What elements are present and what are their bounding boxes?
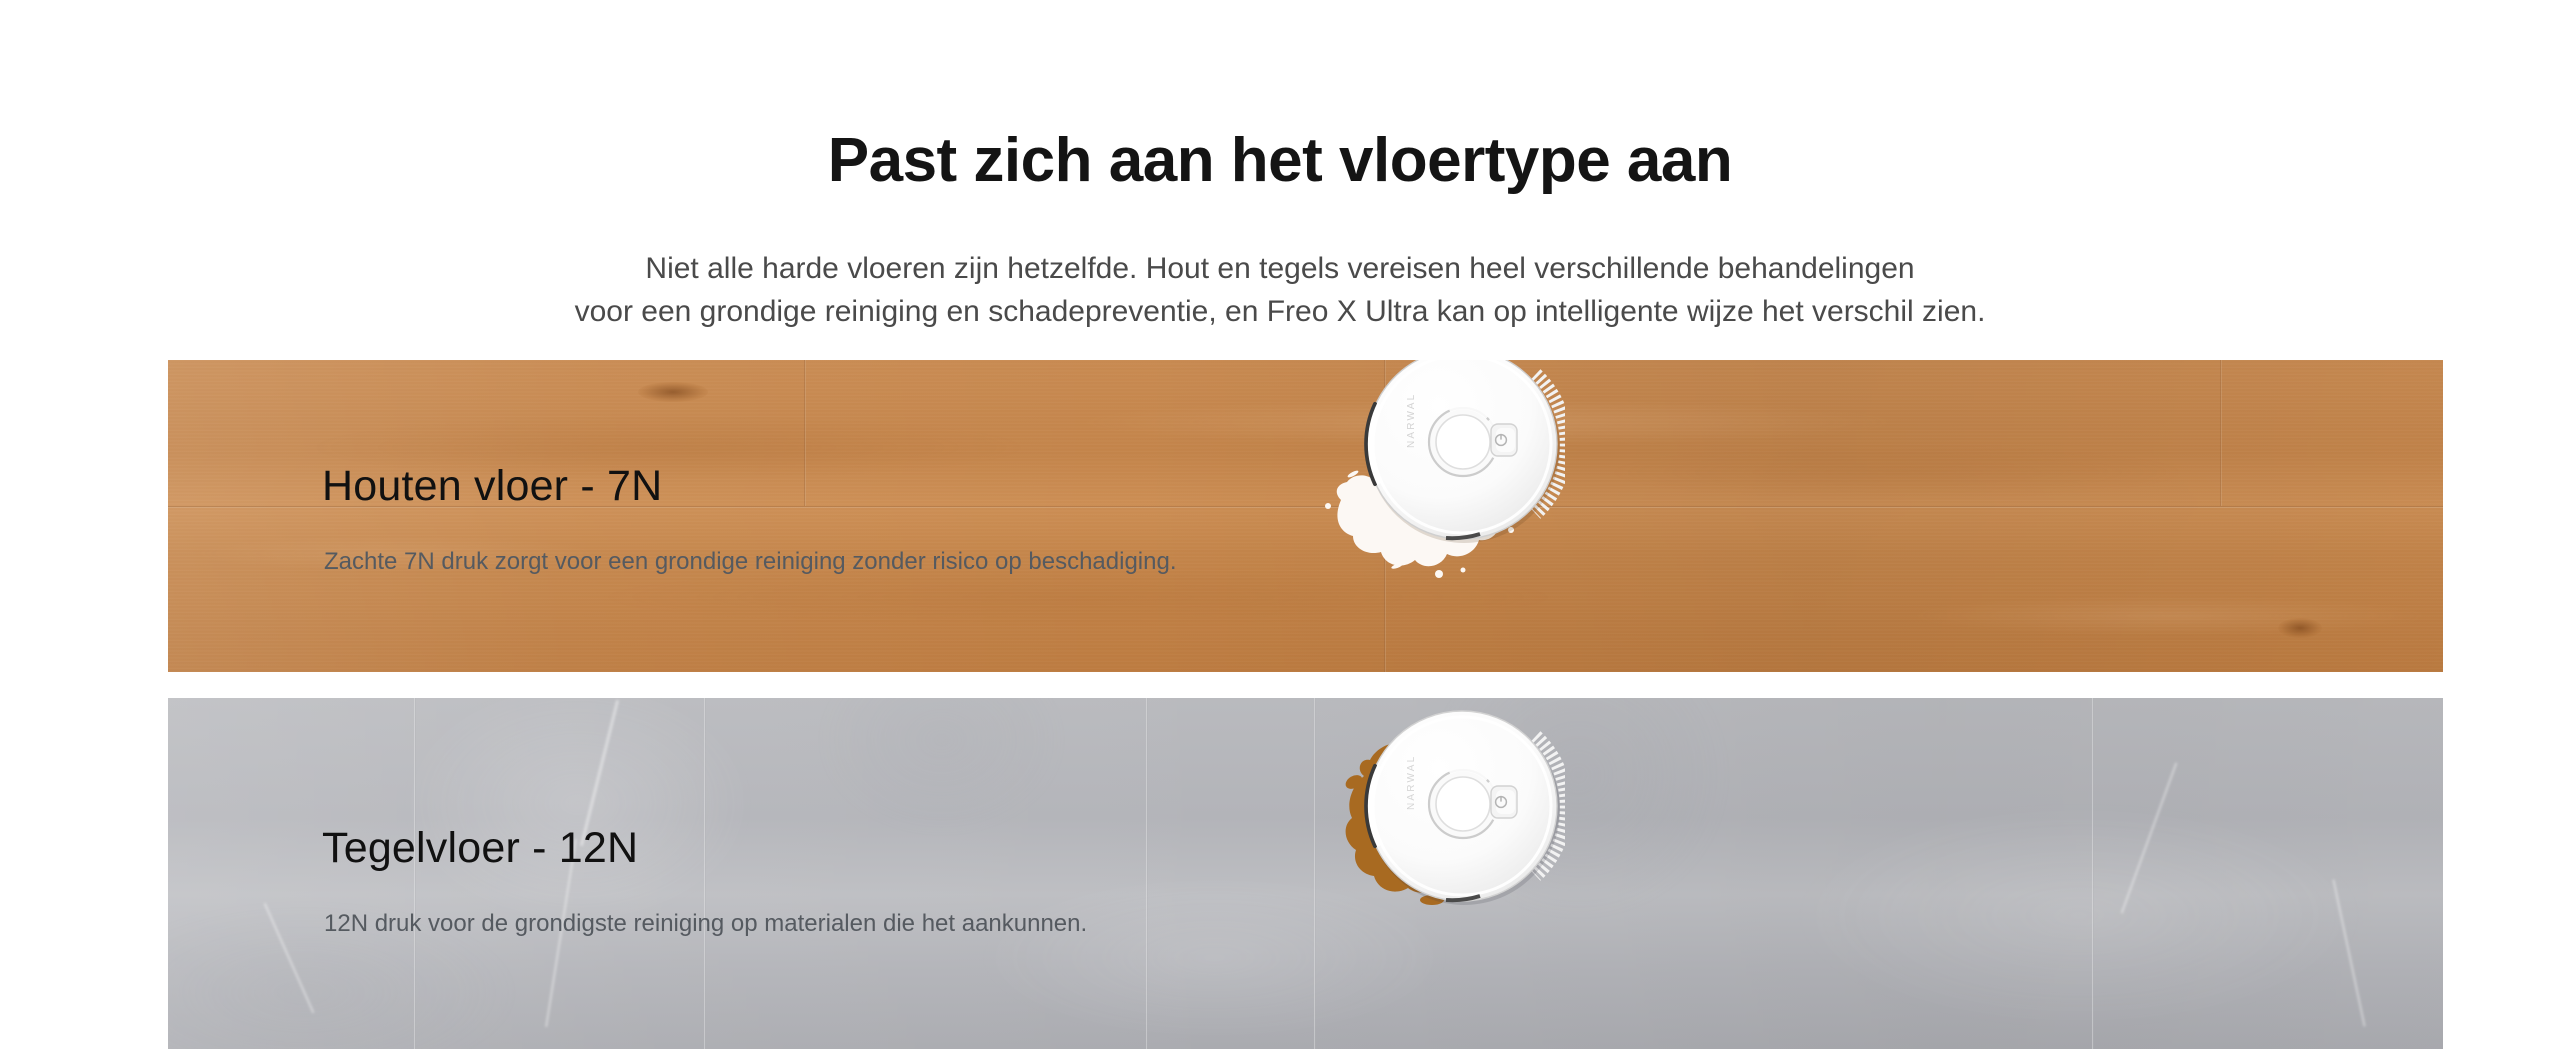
- page-subtitle-line-2: voor een grondige reiniging en schadepre…: [0, 291, 2560, 334]
- banner-wood-title: Houten vloer - 7N: [322, 462, 662, 511]
- page-subtitle-line-1: Niet alle harde vloeren zijn hetzelfde. …: [0, 248, 2560, 291]
- page-title: Past zich aan het vloertype aan: [0, 128, 2560, 193]
- banner-wood-floor: NARWAL Houten vloer - 7N Zachte 7N druk …: [168, 360, 2443, 672]
- tile-floor-background: [168, 698, 2443, 1049]
- tile-marble-texture: [168, 698, 2443, 1049]
- tile-grout-line: [414, 698, 416, 1049]
- banner-tile-floor: NARWAL Tegelvloer - 12N 12N druk voor de…: [168, 698, 2443, 1049]
- tile-grout-line: [704, 698, 706, 1049]
- page-subtitle: Niet alle harde vloeren zijn hetzelfde. …: [0, 248, 2560, 333]
- tile-grout-line: [1314, 698, 1316, 1049]
- wood-swirl-texture: [168, 360, 2443, 672]
- wood-plank-seam-vertical: [2220, 360, 2222, 506]
- banner-wood-description: Zachte 7N druk zorgt voor een grondige r…: [324, 548, 1177, 576]
- wood-knot: [2278, 618, 2322, 638]
- svg-text:NARWAL: NARWAL: [1406, 393, 1417, 448]
- product-feature-page: Past zich aan het vloertype aan Niet all…: [0, 0, 2560, 1049]
- wood-plank-seam-vertical: [804, 360, 806, 506]
- wood-knot: [638, 382, 708, 402]
- svg-text:NARWAL: NARWAL: [1406, 755, 1417, 810]
- robot-vacuum: NARWAL: [1360, 700, 1565, 912]
- wood-floor-background: [168, 360, 2443, 672]
- tile-grout-line: [2092, 698, 2094, 1049]
- robot-vacuum: NARWAL: [1360, 360, 1565, 550]
- banner-tile-description: 12N druk voor de grondigste reiniging op…: [324, 910, 1087, 938]
- tile-grout-line: [1146, 698, 1148, 1049]
- banner-tile-title: Tegelvloer - 12N: [322, 824, 638, 873]
